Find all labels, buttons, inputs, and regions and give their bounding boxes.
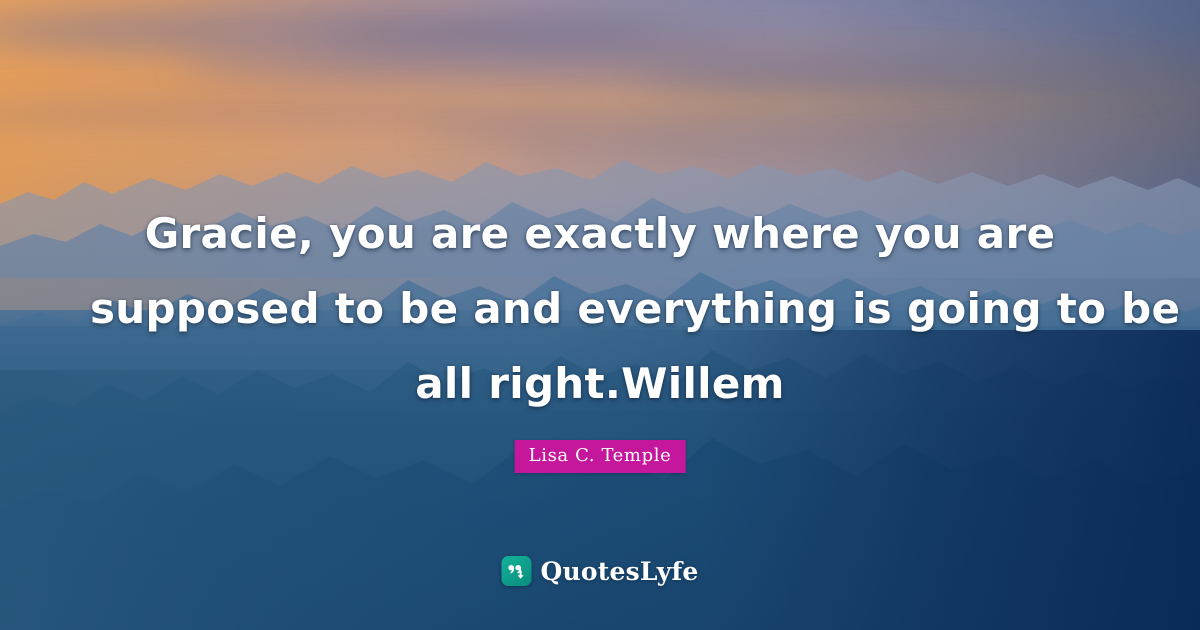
quote-line: Gracie, you are exactly where you are (90, 196, 1110, 271)
quote-line: supposed to be and everything is going t… (90, 271, 1110, 346)
author-badge[interactable]: Lisa C. Temple (515, 440, 686, 473)
card-content: Gracie, you are exactly where you are su… (0, 0, 1200, 630)
quote-text: Gracie, you are exactly where you are su… (0, 196, 1200, 421)
brand-logo[interactable]: QuotesLyfe (501, 556, 698, 586)
quote-line: all right.Willem (90, 346, 1110, 421)
brand-name: QuotesLyfe (540, 559, 698, 584)
quote-card: Gracie, you are exactly where you are su… (0, 0, 1200, 630)
quote-mark-icon (501, 556, 531, 586)
